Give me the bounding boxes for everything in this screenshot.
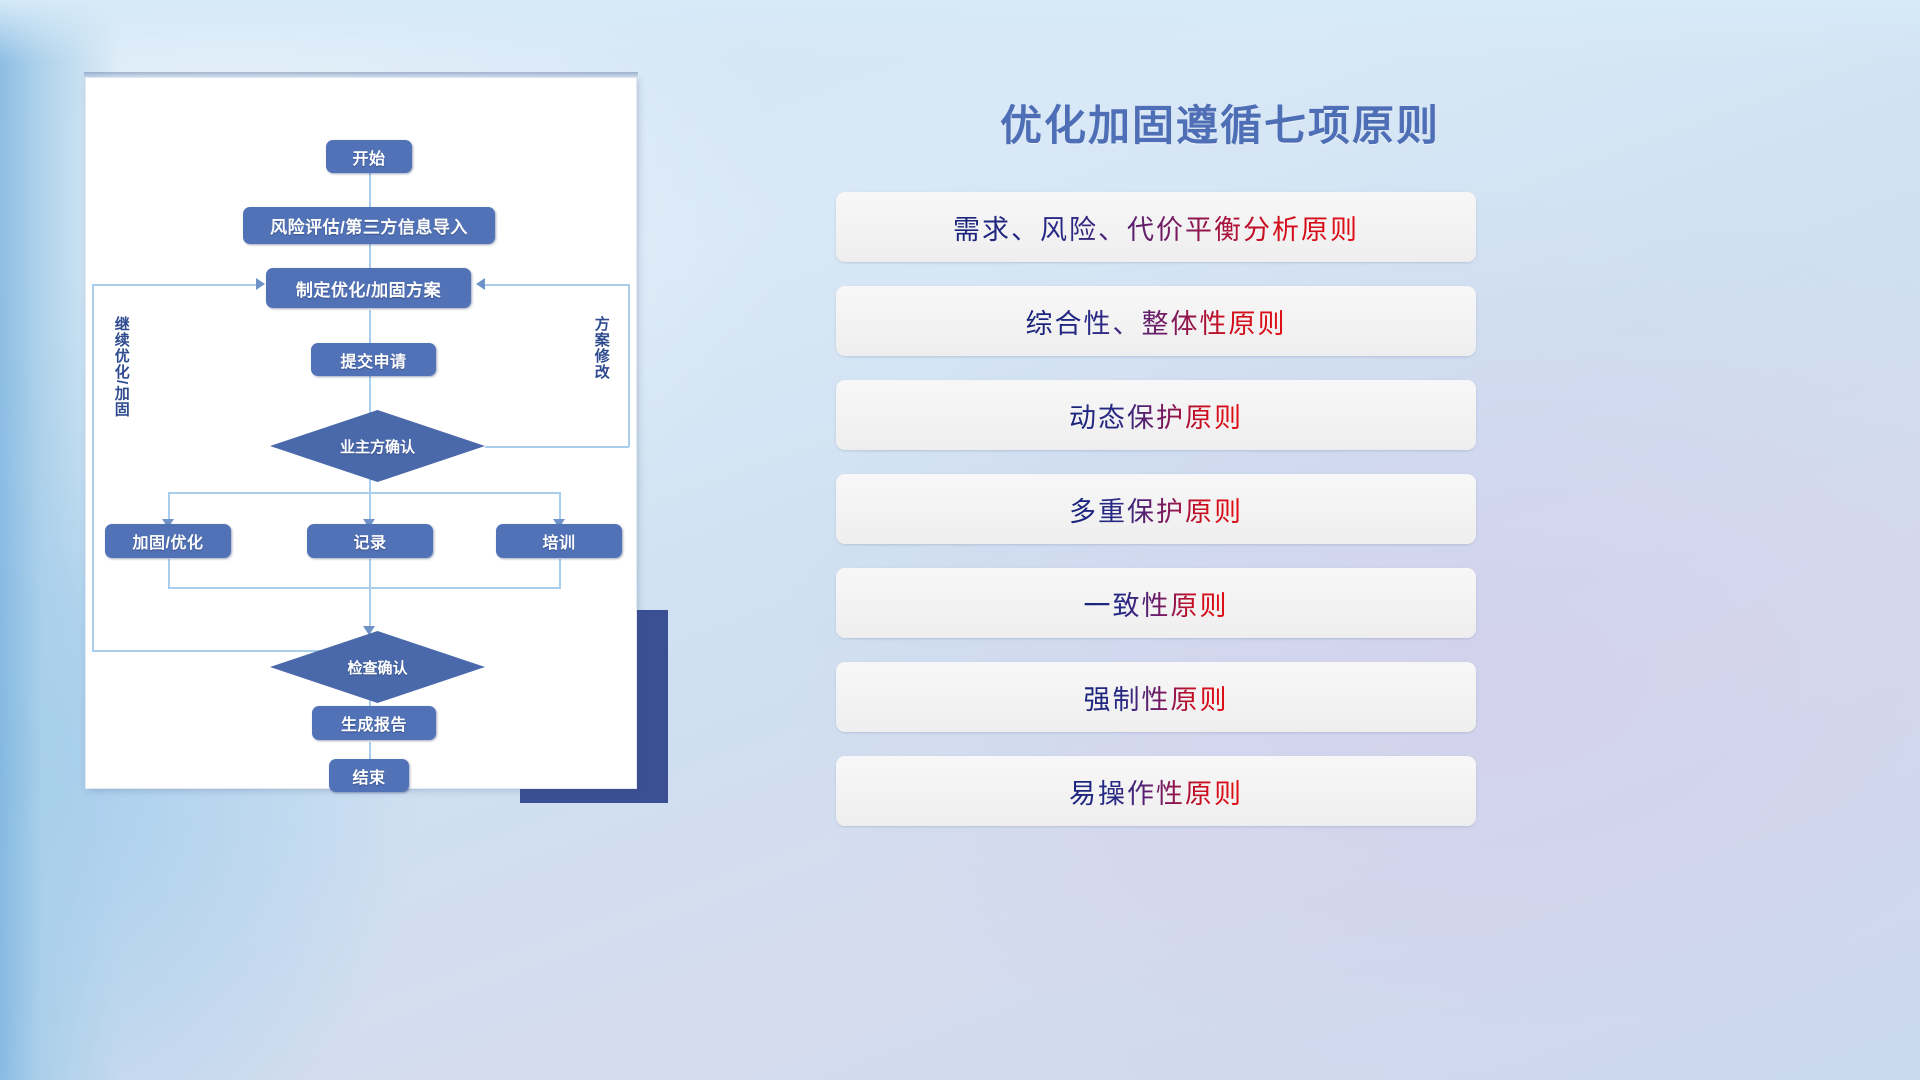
slide-background: 开始 风险评估/第三方信息导入 制定优化/加固方案 提交申请 业主方确认 加固/…: [0, 0, 1920, 1080]
flow-node-check-confirm[interactable]: 检查确认: [270, 631, 485, 703]
edge-loop-left-top: [92, 284, 260, 286]
principle-label-2: 综合性、整体性原则: [1026, 302, 1287, 341]
principle-label-3: 动态保护原则: [1069, 396, 1243, 435]
flow-node-reinforce[interactable]: 加固/优化: [105, 524, 231, 558]
principle-label-1: 需求、风险、代价平衡分析原则: [953, 208, 1359, 247]
arrowhead-left: [476, 278, 485, 290]
principle-label-6: 强制性原则: [1084, 678, 1229, 717]
edge-label-plan-revision: 方案修改: [591, 316, 610, 416]
arrowhead-right: [256, 278, 265, 290]
flow-node-plan-label: 制定优化/加固方案: [296, 276, 441, 301]
flow-node-owner-confirm[interactable]: 业主方确认: [270, 410, 485, 482]
flow-node-reinforce-label: 加固/优化: [133, 529, 204, 553]
edge-merge-left: [168, 559, 170, 589]
principle-card-4[interactable]: 多重保护原则: [836, 474, 1476, 544]
principle-card-2[interactable]: 综合性、整体性原则: [836, 286, 1476, 356]
edge-loop-right-top: [485, 284, 629, 286]
flow-node-start[interactable]: 开始: [326, 140, 412, 173]
flowchart-card: 开始 风险评估/第三方信息导入 制定优化/加固方案 提交申请 业主方确认 加固/…: [86, 78, 636, 788]
principle-label-5: 一致性原则: [1084, 584, 1229, 623]
flow-node-record[interactable]: 记录: [307, 524, 433, 558]
flow-node-training[interactable]: 培训: [496, 524, 622, 558]
principle-card-7[interactable]: 易操作性原则: [836, 756, 1476, 826]
principle-card-3[interactable]: 动态保护原则: [836, 380, 1476, 450]
flow-node-plan[interactable]: 制定优化/加固方案: [266, 268, 471, 308]
principle-label-4: 多重保护原则: [1069, 490, 1243, 529]
flow-node-end-label: 结束: [352, 764, 385, 788]
principle-card-1[interactable]: 需求、风险、代价平衡分析原则: [836, 192, 1476, 262]
principle-card-6[interactable]: 强制性原则: [836, 662, 1476, 732]
edge-loop-right-vertical: [628, 284, 630, 447]
flow-node-training-label: 培训: [542, 529, 575, 553]
flow-node-owner-confirm-label: 业主方确认: [340, 436, 415, 457]
flow-node-submit[interactable]: 提交申请: [311, 343, 436, 376]
page-title: 优化加固遵循七项原则: [940, 92, 1500, 153]
principles-list: 需求、风险、代价平衡分析原则 综合性、整体性原则 动态保护原则 多重保护原则 一…: [836, 192, 1476, 850]
edge-label-continue-optimize: 继续优化/加固: [111, 316, 130, 446]
edge-loop-left-bottom: [92, 650, 337, 652]
flow-node-end[interactable]: 结束: [329, 759, 409, 792]
flow-node-submit-label: 提交申请: [340, 348, 406, 372]
flow-node-report[interactable]: 生成报告: [312, 706, 436, 740]
principle-card-5[interactable]: 一致性原则: [836, 568, 1476, 638]
edge-merge-right: [559, 559, 561, 589]
flow-node-risk-assessment-label: 风险评估/第三方信息导入: [270, 213, 468, 238]
edge-loop-left-vertical: [92, 284, 94, 651]
flowchart: 开始 风险评估/第三方信息导入 制定优化/加固方案 提交申请 业主方确认 加固/…: [86, 78, 636, 788]
principle-label-7: 易操作性原则: [1069, 772, 1243, 811]
flow-node-report-label: 生成报告: [341, 711, 407, 735]
edge-loop-right-bottom: [485, 446, 629, 448]
flow-node-check-confirm-label: 检查确认: [347, 657, 407, 678]
flow-node-record-label: 记录: [353, 529, 386, 553]
flow-node-start-label: 开始: [352, 145, 385, 169]
flow-node-risk-assessment[interactable]: 风险评估/第三方信息导入: [243, 207, 495, 244]
edge-branch-bus: [168, 492, 560, 494]
edge-merge-bus: [168, 587, 560, 589]
